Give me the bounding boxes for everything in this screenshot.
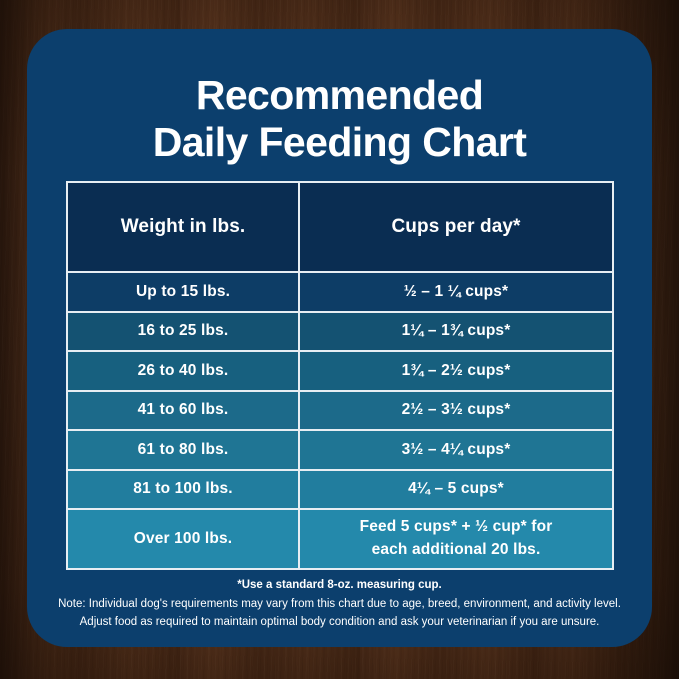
feeding-chart-card: Recommended Daily Feeding Chart Weight i… — [27, 29, 652, 647]
cell-weight: 61 to 80 lbs. — [68, 431, 300, 471]
cell-weight: Up to 15 lbs. — [68, 273, 300, 313]
table-header: Weight in lbs. Cups per day* — [68, 183, 612, 273]
cell-cups: 1¼ – 1¾ cups* — [300, 313, 612, 353]
cell-cups: 3½ – 4¼ cups* — [300, 431, 612, 471]
table-header-row: Weight in lbs. Cups per day* — [68, 183, 612, 273]
cell-cups: 4¼ – 5 cups* — [300, 471, 612, 511]
cell-cups: 1¾ – 2½ cups* — [300, 352, 612, 392]
cell-weight: 26 to 40 lbs. — [68, 352, 300, 392]
cell-weight: 16 to 25 lbs. — [68, 313, 300, 353]
table-row: 61 to 80 lbs. 3½ – 4¼ cups* — [68, 431, 612, 471]
cell-weight: 41 to 60 lbs. — [68, 392, 300, 432]
table-row: Over 100 lbs. Feed 5 cups* + ½ cup* for … — [68, 510, 612, 568]
footnote-adjust: Adjust food as required to maintain opti… — [27, 613, 652, 632]
footnotes: *Use a standard 8-oz. measuring cup. Not… — [27, 576, 652, 632]
column-header-weight: Weight in lbs. — [68, 183, 300, 273]
title-line-1: Recommended — [27, 72, 652, 119]
table-row: 26 to 40 lbs. 1¾ – 2½ cups* — [68, 352, 612, 392]
cell-weight: 81 to 100 lbs. — [68, 471, 300, 511]
feeding-table: Weight in lbs. Cups per day* Up to 15 lb… — [66, 181, 614, 570]
table-body: Up to 15 lbs. ½ – 1 ¼ cups* 16 to 25 lbs… — [68, 273, 612, 568]
cell-weight: Over 100 lbs. — [68, 510, 300, 568]
column-header-cups: Cups per day* — [300, 183, 612, 273]
cell-cups-line-2: each additional 20 lbs. — [300, 539, 612, 562]
table-row: 41 to 60 lbs. 2½ – 3½ cups* — [68, 392, 612, 432]
title-line-2: Daily Feeding Chart — [27, 119, 652, 166]
table-row: 81 to 100 lbs. 4¼ – 5 cups* — [68, 471, 612, 511]
table-row: Up to 15 lbs. ½ – 1 ¼ cups* — [68, 273, 612, 313]
table-row: 16 to 25 lbs. 1¼ – 1¾ cups* — [68, 313, 612, 353]
footnote-measuring-cup: *Use a standard 8-oz. measuring cup. — [27, 576, 652, 595]
footnote-note: Note: Individual dog's requirements may … — [27, 595, 652, 614]
cell-cups: Feed 5 cups* + ½ cup* for each additiona… — [300, 510, 612, 568]
chart-title: Recommended Daily Feeding Chart — [27, 29, 652, 165]
cell-cups: ½ – 1 ¼ cups* — [300, 273, 612, 313]
cell-cups-line-1: Feed 5 cups* + ½ cup* for — [300, 516, 612, 539]
cell-cups: 2½ – 3½ cups* — [300, 392, 612, 432]
